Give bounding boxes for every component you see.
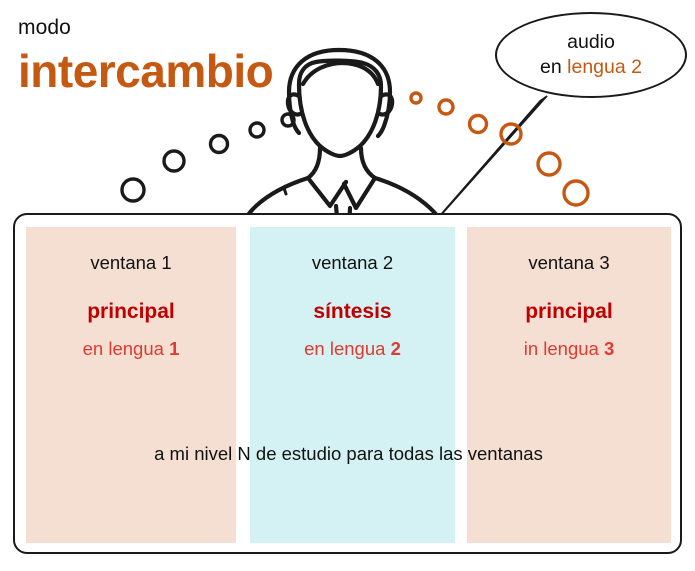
window-column-2[interactable]: ventana 2 síntesis en lengua 2 [250,227,455,543]
speech-bubble-line-2-accent: lengua 2 [567,56,642,78]
page-title: intercambio [18,44,273,98]
orange-circle [564,181,588,205]
orange-circles-group [411,93,588,205]
mode-kicker-label: modo [18,16,71,40]
orange-circle [411,93,421,103]
window-3-title: ventana 3 [467,252,671,274]
window-2-role: síntesis [250,300,455,324]
panel-footer-note: a mi nivel N de estudio para todas las v… [26,443,671,465]
black-circle [122,179,144,201]
window-2-title: ventana 2 [250,252,455,274]
orange-circle [439,100,453,114]
window-2-language: en lengua 2 [250,338,455,360]
speech-bubble-line-2: en lengua 2 [540,55,642,80]
diagram-canvas: modo intercambio [0,0,695,571]
window-1-role: principal [26,300,236,324]
column-gap-2 [455,227,467,543]
window-1-language-prefix: en lengua [83,338,169,359]
window-3-role: principal [467,300,671,324]
orange-circle [538,153,560,175]
window-2-language-prefix: en lengua [304,338,390,359]
windows-columns: ventana 1 principal en lengua 1 ventana … [26,227,671,543]
orange-circle [501,124,521,144]
window-1-language-number: 1 [169,338,179,359]
column-gap-1 [236,227,250,543]
window-3-language: in lengua 3 [467,338,671,360]
black-circle [250,123,264,137]
black-circle [282,114,294,126]
black-circle [164,151,184,171]
window-3-language-prefix: in lengua [524,338,604,359]
window-1-title: ventana 1 [26,252,236,274]
window-column-3[interactable]: ventana 3 principal in lengua 3 [467,227,671,543]
window-3-language-number: 3 [604,338,614,359]
window-column-1[interactable]: ventana 1 principal en lengua 1 [26,227,236,543]
speech-bubble-line-1: audio [567,30,615,55]
window-2-language-number: 2 [391,338,401,359]
orange-circle [470,116,487,133]
black-circle [211,136,228,153]
speech-bubble-line-2-prefix: en [540,56,567,78]
window-1-language: en lengua 1 [26,338,236,360]
speech-bubble: audio en lengua 2 [495,12,687,98]
black-circles-group [122,114,294,201]
